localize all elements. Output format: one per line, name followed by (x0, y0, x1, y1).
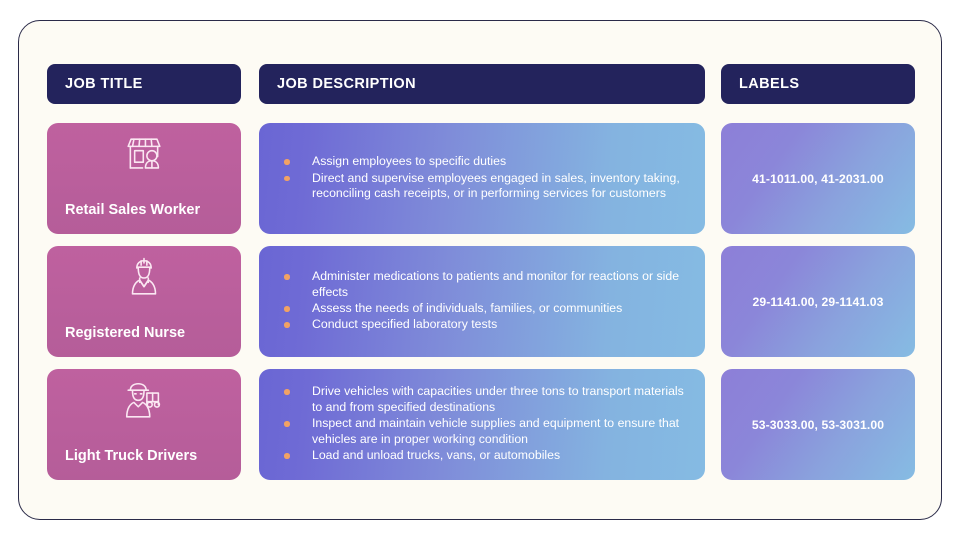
labels-value: 41-1011.00, 41-2031.00 (752, 172, 884, 186)
table-row: Retail Sales Worker Assign employees to … (47, 123, 915, 234)
list-item: Load and unload trucks, vans, or automob… (281, 448, 691, 463)
list-item: Assign employees to specific duties (281, 154, 691, 169)
column-header-job-description: JOB DESCRIPTION (259, 64, 705, 104)
job-title-label: Light Truck Drivers (47, 448, 241, 464)
table-row: Light Truck Drivers Drive vehicles with … (47, 369, 915, 480)
labels-value: 53-3033.00, 53-3031.00 (752, 418, 884, 432)
list-item: Direct and supervise employees engaged i… (281, 171, 691, 202)
list-item: Inspect and maintain vehicle supplies an… (281, 416, 691, 447)
page-root: JOB TITLE JOB DESCRIPTION LABELS (0, 0, 960, 540)
job-description-list: Assign employees to specific duties Dire… (259, 154, 705, 202)
column-header-labels-label: LABELS (721, 76, 799, 92)
table-body: Retail Sales Worker Assign employees to … (47, 123, 915, 492)
job-description-card: Assign employees to specific duties Dire… (259, 123, 705, 234)
job-description-card: Drive vehicles with capacities under thr… (259, 369, 705, 480)
storefront-worker-icon (121, 132, 167, 178)
job-title-label: Registered Nurse (47, 325, 241, 341)
job-title-card: Light Truck Drivers (47, 369, 241, 480)
column-header-job-title-label: JOB TITLE (47, 76, 143, 92)
job-description-list: Drive vehicles with capacities under thr… (259, 384, 705, 464)
job-description-list: Administer medications to patients and m… (259, 269, 705, 334)
labels-card: 53-3033.00, 53-3031.00 (721, 369, 915, 480)
list-item: Conduct specified laboratory tests (281, 317, 691, 332)
column-header-job-description-label: JOB DESCRIPTION (259, 76, 416, 92)
table-header-row: JOB TITLE JOB DESCRIPTION LABELS (47, 64, 915, 104)
column-header-job-title: JOB TITLE (47, 64, 241, 104)
job-title-label: Retail Sales Worker (47, 202, 241, 218)
list-item: Assess the needs of individuals, familie… (281, 301, 691, 316)
labels-value: 29-1141.00, 29-1141.03 (753, 295, 884, 309)
column-header-labels: LABELS (721, 64, 915, 104)
content-panel: JOB TITLE JOB DESCRIPTION LABELS (18, 20, 942, 520)
nurse-icon (121, 255, 167, 301)
list-item: Administer medications to patients and m… (281, 269, 691, 300)
job-title-card: Retail Sales Worker (47, 123, 241, 234)
job-title-card: Registered Nurse (47, 246, 241, 357)
list-item: Drive vehicles with capacities under thr… (281, 384, 691, 415)
labels-card: 29-1141.00, 29-1141.03 (721, 246, 915, 357)
labels-card: 41-1011.00, 41-2031.00 (721, 123, 915, 234)
job-description-card: Administer medications to patients and m… (259, 246, 705, 357)
table-row: Registered Nurse Administer medications … (47, 246, 915, 357)
truck-driver-icon (121, 378, 167, 424)
